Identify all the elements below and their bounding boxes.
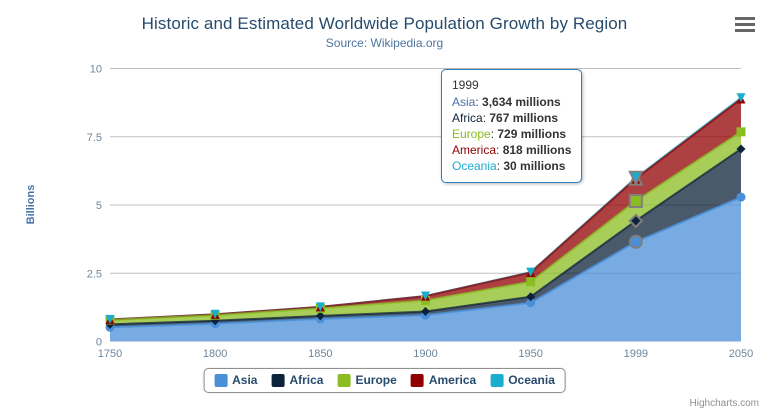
x-axis-tick-label: 1750 [98, 348, 122, 360]
highcharts-container: Historic and Estimated Worldwide Populat… [0, 0, 769, 416]
legend-item-europe[interactable]: Europe [337, 373, 396, 387]
x-axis-tick-label: 1999 [624, 348, 648, 360]
legend-swatch-icon [214, 374, 227, 387]
x-axis-tick-label: 1950 [518, 348, 542, 360]
data-point-marker[interactable] [630, 195, 642, 207]
tooltip-series-name: America [452, 143, 496, 157]
x-axis-tick-label: 2050 [729, 348, 753, 360]
y-axis-tick-label: 10 [90, 64, 102, 76]
legend-item-label: Africa [289, 373, 323, 387]
legend-item-america[interactable]: America [411, 373, 476, 387]
data-point-marker[interactable] [737, 127, 746, 136]
y-axis-tick-label: 2.5 [87, 268, 102, 280]
tooltip-row: Africa: 767 millions [452, 110, 571, 126]
tooltip-series-name: Africa [452, 111, 483, 125]
chart-plot-area[interactable]: 02.557.510Billions1750180018501900195019… [0, 0, 769, 416]
tooltip-series-value: 767 millions [489, 111, 558, 125]
legend-swatch-icon [271, 374, 284, 387]
tooltip-series-name: Oceania [452, 159, 497, 173]
tooltip-series-name: Asia [452, 95, 475, 109]
legend-swatch-icon [411, 374, 424, 387]
legend-swatch-icon [337, 374, 350, 387]
x-axis-tick-label: 1800 [203, 348, 227, 360]
x-axis-tick-label: 1900 [413, 348, 437, 360]
legend-item-asia[interactable]: Asia [214, 373, 257, 387]
legend-item-label: Europe [355, 373, 396, 387]
x-axis-tick-label: 1850 [308, 348, 332, 360]
y-axis-tick-label: 7.5 [87, 132, 102, 144]
tooltip-row: Oceania: 30 millions [452, 158, 571, 174]
tooltip-series-value: 3,634 millions [482, 95, 561, 109]
chart-legend: AsiaAfricaEuropeAmericaOceania [203, 368, 566, 393]
data-point-marker[interactable] [526, 277, 535, 286]
legend-item-label: America [429, 373, 476, 387]
tooltip-row: Europe: 729 millions [452, 126, 571, 142]
data-point-marker[interactable] [630, 236, 642, 248]
tooltip-row: America: 818 millions [452, 142, 571, 158]
data-point-marker[interactable] [737, 193, 746, 202]
chart-tooltip: 1999 Asia: 3,634 millionsAfrica: 767 mil… [441, 69, 582, 183]
legend-item-label: Asia [232, 373, 257, 387]
tooltip-series-value: 729 millions [497, 127, 566, 141]
y-axis-tick-label: 5 [96, 200, 102, 212]
legend-item-oceania[interactable]: Oceania [490, 373, 555, 387]
credits-label[interactable]: Highcharts.com [690, 398, 759, 409]
legend-item-label: Oceania [508, 373, 555, 387]
y-axis-title: Billions [25, 185, 37, 225]
legend-item-africa[interactable]: Africa [271, 373, 323, 387]
tooltip-row: Asia: 3,634 millions [452, 94, 571, 110]
tooltip-rows: Asia: 3,634 millionsAfrica: 767 millions… [452, 94, 571, 174]
legend-swatch-icon [490, 374, 503, 387]
y-axis-tick-label: 0 [96, 337, 102, 349]
tooltip-series-value: 818 millions [503, 143, 572, 157]
tooltip-series-name: Europe [452, 127, 491, 141]
tooltip-series-value: 30 millions [503, 159, 565, 173]
tooltip-header: 1999 [452, 77, 571, 93]
